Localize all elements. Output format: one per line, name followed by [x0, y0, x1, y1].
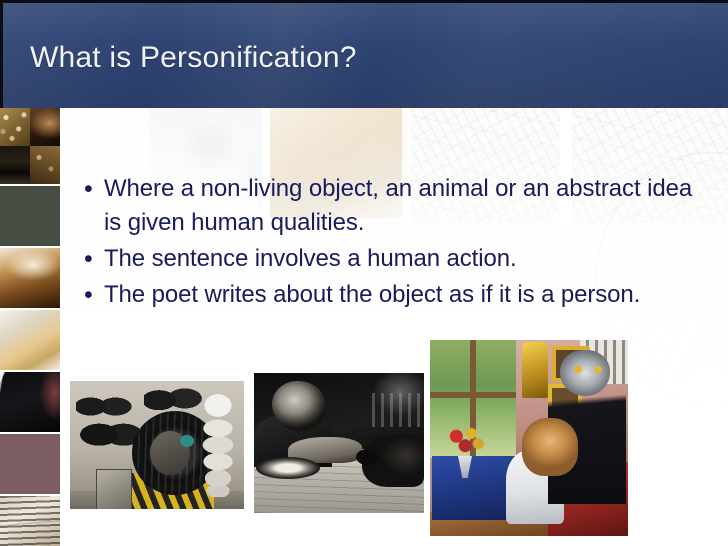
- bullet-text-2: The sentence involves a human action.: [104, 242, 701, 276]
- eyeglasses-on-book-thumbnail: [0, 310, 60, 370]
- man-eating-with-dog-photo: [254, 373, 424, 513]
- balancer-control-panel: [96, 469, 132, 509]
- flower-bouquet: [444, 426, 488, 460]
- cork-quad-bottomleft: [0, 146, 30, 184]
- dog-snout: [356, 449, 378, 465]
- michelin-man-figure: [196, 393, 240, 497]
- victorian-cats-painting: [430, 340, 628, 536]
- bullet-marker-icon: •: [76, 278, 104, 312]
- cat-eye-right: [594, 366, 602, 373]
- bullet-marker-icon: •: [76, 172, 104, 206]
- window-mullion-horizontal: [430, 392, 516, 398]
- dinner-plate: [256, 457, 320, 479]
- olive-solid-block: [0, 186, 60, 246]
- presentation-slide: What is Personification? • Where a non-l…: [0, 0, 728, 546]
- cork-quad-topright: [30, 108, 60, 146]
- bullet-list: • Where a non-living object, an animal o…: [76, 172, 701, 314]
- cat-eye-left: [574, 366, 582, 373]
- bullet-item-3: • The poet writes about the object as if…: [76, 278, 701, 312]
- page-title: What is Personification?: [30, 39, 357, 77]
- gentleman-cat-head: [560, 350, 610, 396]
- cork-quad-bottomright: [30, 146, 60, 184]
- bullet-text-3: The poet writes about the object as if i…: [104, 278, 701, 312]
- background-shelf: [372, 393, 420, 427]
- slide-header-band: What is Personification?: [0, 0, 728, 108]
- bullet-item-1: • Where a non-living object, an animal o…: [76, 172, 701, 240]
- michelin-logo-mark: [180, 435, 194, 447]
- bullet-text-1: Where a non-living object, an animal or …: [104, 172, 701, 240]
- open-book-thumbnail: [0, 248, 60, 308]
- bullet-marker-icon: •: [76, 242, 104, 276]
- lady-cat-head: [522, 418, 578, 476]
- left-thumbnail-strip: [0, 108, 60, 546]
- glasses-on-newspaper-thumbnail: [0, 496, 60, 546]
- michelin-man-tire-photo: [70, 381, 244, 509]
- man-head: [272, 381, 326, 431]
- bullet-item-2: • The sentence involves a human action.: [76, 242, 701, 276]
- gilt-ornament: [522, 342, 548, 398]
- mauve-solid-block: [0, 434, 60, 494]
- cork-quad-topleft: [0, 108, 30, 146]
- dark-fabric-thumbnail: [0, 372, 60, 432]
- cork-and-wood-quad-thumbnail: [0, 108, 60, 184]
